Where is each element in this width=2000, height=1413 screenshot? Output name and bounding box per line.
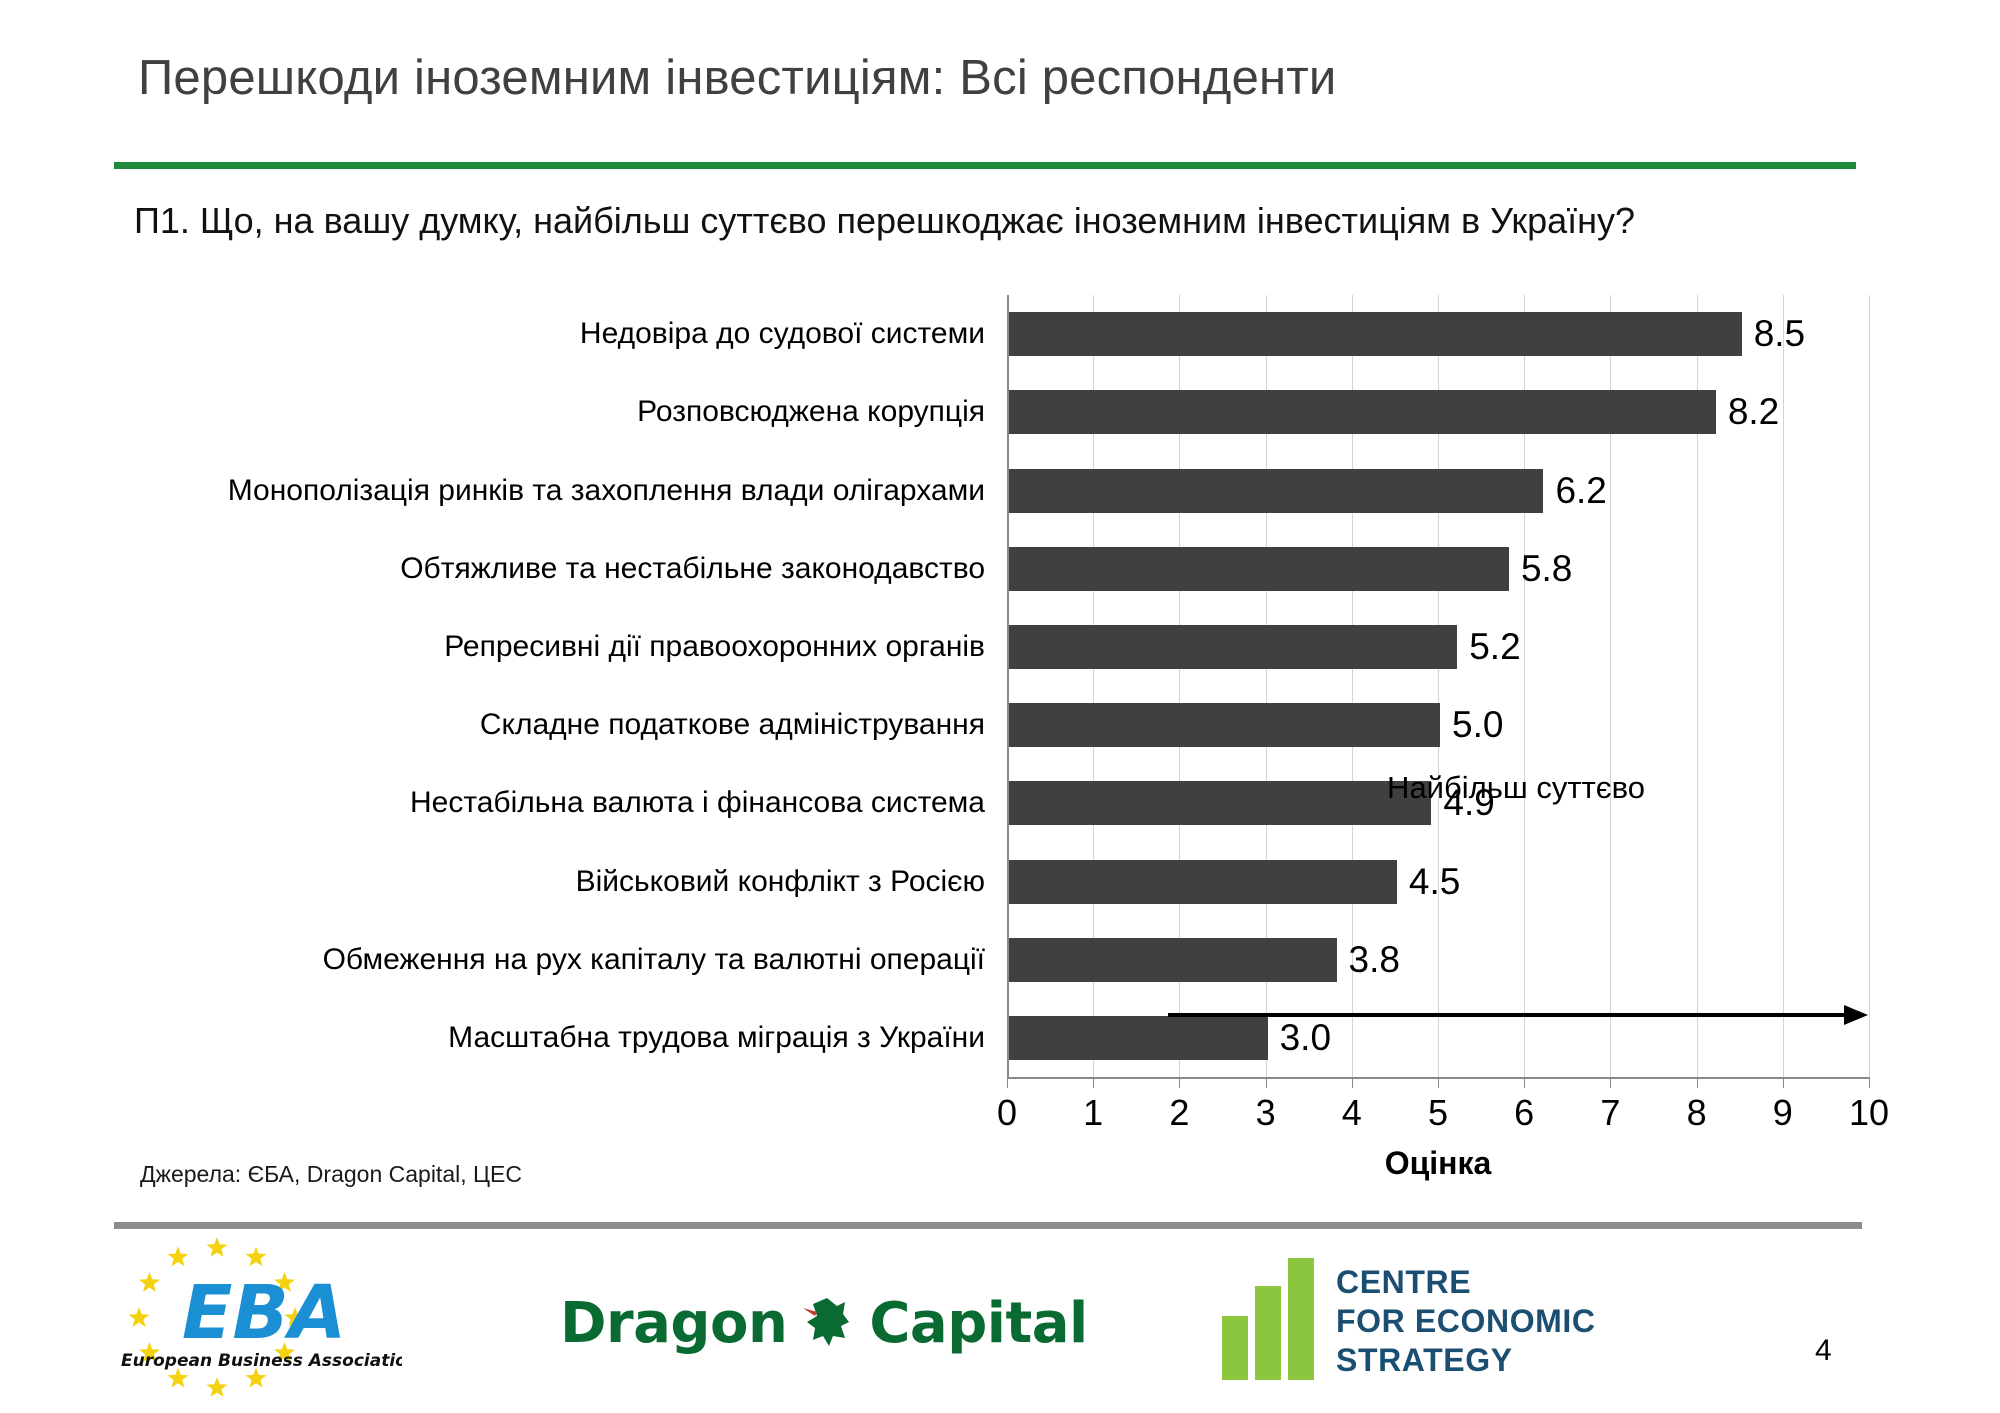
bar-row: 3.8	[1007, 938, 1869, 982]
bar	[1009, 469, 1543, 513]
tick-mark	[1610, 1077, 1611, 1088]
tick-mark	[1352, 1077, 1353, 1088]
bar	[1009, 703, 1440, 747]
tick-mark	[1524, 1077, 1525, 1088]
bar-row: 5.0	[1007, 703, 1869, 747]
dragon-capital-logo: Dragon Capital	[560, 1288, 1088, 1358]
bar-row: 5.2	[1007, 625, 1869, 669]
x-tick-label: 1	[1083, 1092, 1103, 1134]
bar-row: 4.5	[1007, 860, 1869, 904]
right-arrow-icon	[1168, 1005, 1868, 1025]
star-icon	[168, 1246, 189, 1266]
bar-value-label: 4.5	[1409, 861, 1460, 903]
x-tick-label: 9	[1773, 1092, 1793, 1134]
tick-mark	[1869, 1077, 1870, 1088]
bar-value-label: 8.5	[1754, 313, 1805, 355]
category-label: Обтяжливе та нестабільне законодавство	[400, 552, 985, 586]
bar-value-label: 8.2	[1728, 391, 1779, 433]
eba-logo: EBA European Business Association	[112, 1238, 402, 1398]
dragon-capital-word2: Capital	[869, 1291, 1087, 1356]
ces-line-1: CENTRE	[1336, 1263, 1596, 1302]
category-label: Військовий конфлікт з Росією	[576, 865, 985, 899]
dragon-capital-word1: Dragon	[560, 1291, 787, 1356]
x-tick-label: 2	[1169, 1092, 1189, 1134]
star-icon	[139, 1272, 160, 1292]
category-label: Складне податкове адміністрування	[480, 708, 985, 742]
bar-row: 8.2	[1007, 390, 1869, 434]
page-number: 4	[1815, 1334, 1832, 1368]
footer-divider	[114, 1222, 1862, 1229]
bar-value-label: 5.2	[1469, 626, 1520, 668]
bar	[1009, 781, 1431, 825]
question-text: П1. Що, на вашу думку, найбільш суттєво …	[134, 200, 1635, 242]
category-label: Недовіра до судової системи	[580, 317, 985, 351]
category-label: Розповсюджена корупція	[637, 395, 985, 429]
bar	[1009, 547, 1509, 591]
x-tick-label: 10	[1849, 1092, 1889, 1134]
x-tick-label: 8	[1687, 1092, 1707, 1134]
bar	[1009, 860, 1397, 904]
star-icon	[207, 1238, 228, 1257]
bar-row: 8.5	[1007, 312, 1869, 356]
bar-value-label: 6.2	[1555, 470, 1606, 512]
tick-mark	[1438, 1077, 1439, 1088]
eba-tagline: European Business Association	[121, 1351, 402, 1371]
category-label: Монополізація ринків та захоплення влади…	[228, 474, 985, 508]
tick-mark	[1093, 1077, 1094, 1088]
tick-mark	[1007, 1077, 1008, 1088]
bar-row: 5.8	[1007, 547, 1869, 591]
category-label: Обмеження на рух капіталу та валютні опе…	[323, 943, 985, 977]
bar-chart: 8.58.26.25.85.25.04.94.53.83.0	[1007, 295, 1869, 1077]
gridline	[1869, 295, 1870, 1077]
title-divider	[114, 162, 1856, 169]
tick-mark	[1697, 1077, 1698, 1088]
source-note: Джерела: ЄБА, Dragon Capital, ЦЕС	[140, 1161, 522, 1188]
x-tick-label: 3	[1256, 1092, 1276, 1134]
star-icon	[207, 1377, 228, 1397]
category-label: Масштабна трудова міграція з України	[448, 1021, 985, 1055]
ces-logo: CENTRE FOR ECONOMIC STRATEGY	[1222, 1258, 1596, 1380]
category-label: Нестабільна валюта і фінансова система	[410, 786, 985, 820]
ces-bars-icon	[1222, 1258, 1314, 1380]
category-label: Репресивні дії правоохоронних органів	[444, 630, 985, 664]
bar-value-label: 5.0	[1452, 704, 1503, 746]
x-tick-label: 6	[1514, 1092, 1534, 1134]
ces-line-2: FOR ECONOMIC	[1336, 1302, 1596, 1341]
annotation-label: Найбільш суттєво	[1387, 770, 1645, 806]
bar-value-label: 3.8	[1349, 939, 1400, 981]
bar	[1009, 390, 1716, 434]
ces-wordmark: CENTRE FOR ECONOMIC STRATEGY	[1336, 1263, 1596, 1380]
x-tick-label: 7	[1600, 1092, 1620, 1134]
tick-mark	[1266, 1077, 1267, 1088]
tick-mark	[1783, 1077, 1784, 1088]
page-title: Перешкоди іноземним інвестиціям: Всі рес…	[138, 52, 1337, 106]
x-tick-label: 5	[1428, 1092, 1448, 1134]
dragon-icon	[797, 1292, 859, 1354]
bar-row: 6.2	[1007, 469, 1869, 513]
bar	[1009, 938, 1337, 982]
tick-mark	[1179, 1077, 1180, 1088]
ces-line-3: STRATEGY	[1336, 1341, 1596, 1380]
star-icon	[246, 1246, 267, 1266]
eba-wordmark: EBA	[182, 1270, 346, 1356]
bar-value-label: 5.8	[1521, 548, 1572, 590]
x-axis-title: Оцінка	[1007, 1145, 1869, 1182]
x-tick-label: 4	[1342, 1092, 1362, 1134]
star-icon	[129, 1307, 150, 1327]
bar	[1009, 625, 1457, 669]
bar	[1009, 312, 1742, 356]
x-tick-label: 0	[997, 1092, 1017, 1134]
